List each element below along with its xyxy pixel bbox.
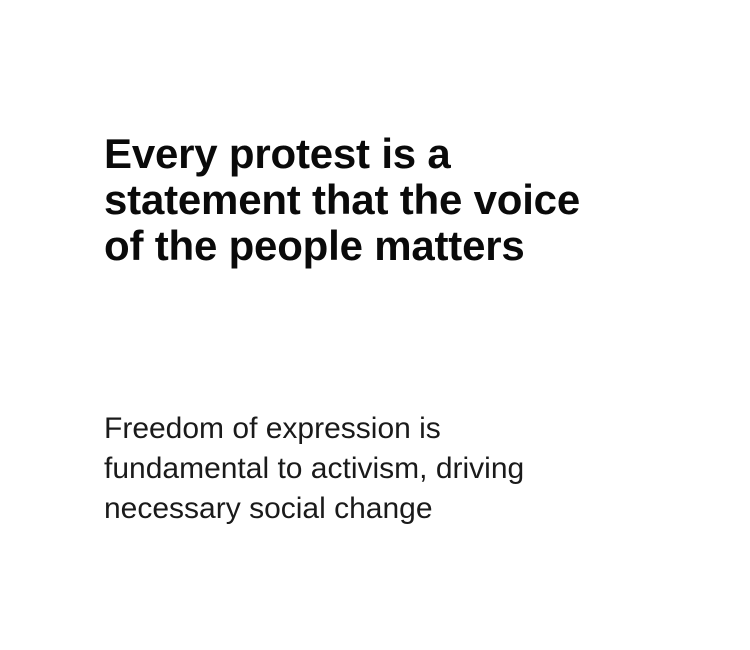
slide-headline: Every protest is a statement that the vo… xyxy=(104,131,626,269)
slide-subtext: Freedom of expression is fundamental to … xyxy=(104,409,582,529)
slide-canvas: Every protest is a statement that the vo… xyxy=(0,0,750,650)
